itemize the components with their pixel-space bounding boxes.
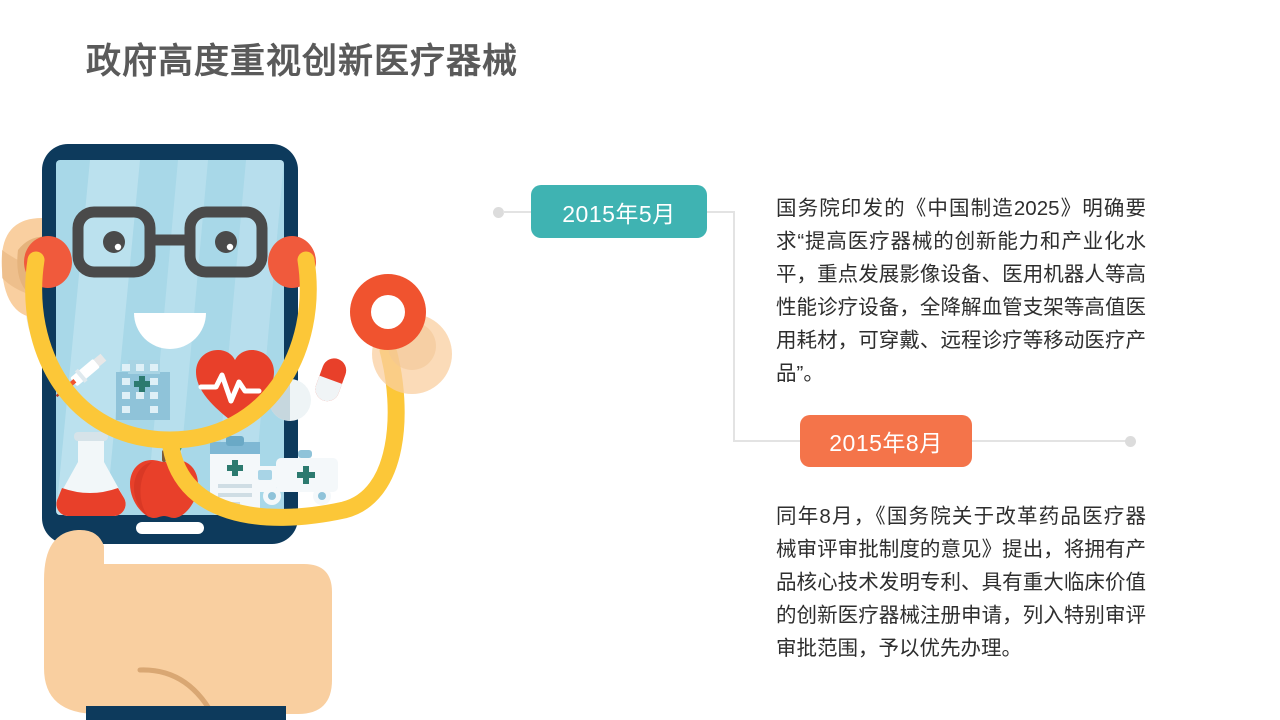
timeline-body-2015-08: 同年8月，《国务院关于改革药品医疗器械审评审批制度的意见》提出，将拥有产品核心技… [776,500,1146,665]
page-title: 政府高度重视创新医疗器械 [86,33,518,84]
timeline-connector-2 [707,211,735,213]
timeline-connector-4 [733,440,803,442]
timeline-connector-5 [970,440,1130,442]
timeline-connector-3 [733,211,735,441]
stethoscope-chestpiece [350,274,452,394]
timeline-badge-2015-05[interactable]: 2015年5月 [531,185,707,238]
timeline-body-2015-05: 国务院印发的《中国制造2025》明确要求“提高医疗器械的创新能力和产业化水平，重… [776,192,1146,390]
slide-root: 政府高度重视创新医疗器械 [0,0,1280,720]
holding-hand-icon [44,530,332,720]
timeline-dot-right [1125,436,1136,447]
timeline-badge-2015-08[interactable]: 2015年8月 [800,415,972,467]
